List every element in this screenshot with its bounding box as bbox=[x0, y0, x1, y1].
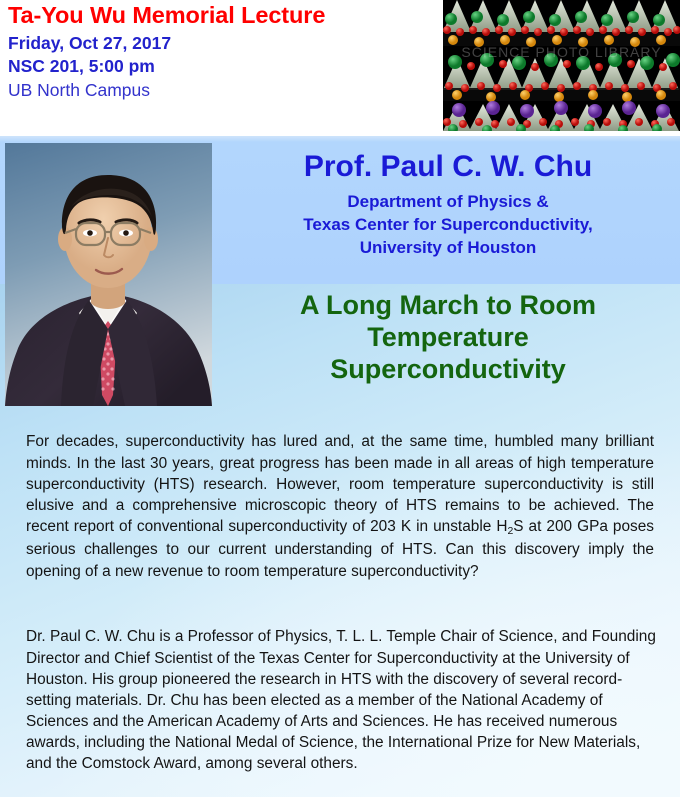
talk-title-line-1: A Long March to Room bbox=[222, 290, 674, 322]
crystal-structure-graphic bbox=[443, 0, 680, 131]
header-text-block: Ta-You Wu Memorial Lecture Friday, Oct 2… bbox=[8, 2, 438, 102]
lecture-poster: Ta-You Wu Memorial Lecture Friday, Oct 2… bbox=[0, 0, 680, 797]
header-strip: Ta-You Wu Memorial Lecture Friday, Oct 2… bbox=[0, 0, 680, 136]
avatar bbox=[5, 143, 212, 406]
talk-title-line-2: Temperature bbox=[222, 322, 674, 354]
page-title: Ta-You Wu Memorial Lecture bbox=[8, 2, 438, 30]
speaker-affiliation-line-2: Texas Center for Superconductivity, bbox=[222, 213, 674, 236]
biography-paragraph: Dr. Paul C. W. Chu is a Professor of Phy… bbox=[26, 626, 658, 774]
speaker-affiliation-line-3: University of Houston bbox=[222, 236, 674, 259]
lecture-date: Friday, Oct 27, 2017 bbox=[8, 32, 438, 55]
portrait-graphic bbox=[5, 143, 212, 406]
speaker-info: Prof. Paul C. W. Chu Department of Physi… bbox=[222, 150, 674, 259]
crystal-structure-image: SCIENCE PHOTO LIBRARY bbox=[443, 0, 680, 131]
talk-title-line-3: Superconductivity bbox=[222, 354, 674, 386]
abstract-paragraph: For decades, superconductivity has lured… bbox=[26, 431, 654, 581]
speaker-affiliation-line-1: Department of Physics & bbox=[222, 190, 674, 213]
speaker-name: Prof. Paul C. W. Chu bbox=[222, 150, 674, 185]
talk-title: A Long March to Room Temperature Superco… bbox=[222, 290, 674, 386]
lecture-campus: UB North Campus bbox=[8, 79, 438, 102]
lecture-location: NSC 201, 5:00 pm bbox=[8, 55, 438, 78]
